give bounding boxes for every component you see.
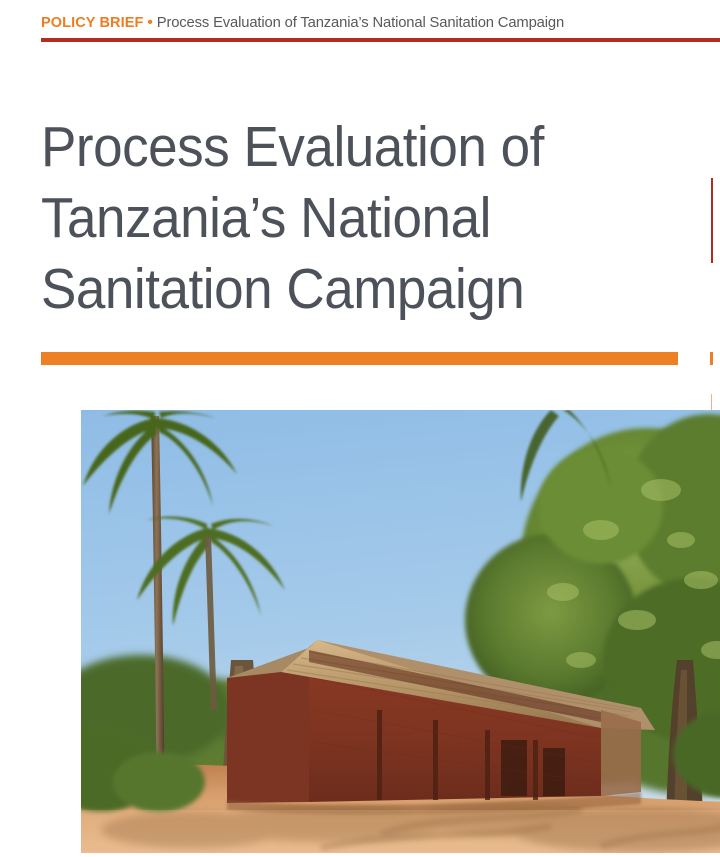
page-title: Process Evaluation of Tanzania’s Nationa… (41, 112, 655, 325)
sidebar-orange-edge-fragment (710, 352, 713, 365)
page-title-line-1: Process Evaluation of (41, 112, 655, 183)
sidebar-red-edge-fragment (711, 178, 713, 263)
running-head-title: Process Evaluation of Tanzania’s Nationa… (157, 15, 564, 31)
page-title-line-3: Sanitation Campaign (41, 254, 655, 325)
running-head-bullet-separator: • (143, 14, 156, 31)
cover-photograph (81, 410, 720, 853)
running-head-label: POLICY BRIEF (41, 15, 143, 31)
cover-photograph-image (81, 410, 720, 853)
running-head-red-rule (41, 38, 720, 42)
running-head: POLICY BRIEF•Process Evaluation of Tanza… (41, 14, 720, 36)
page-title-line-2: Tanzania’s National (41, 183, 655, 254)
orange-divider-bar (41, 352, 678, 365)
